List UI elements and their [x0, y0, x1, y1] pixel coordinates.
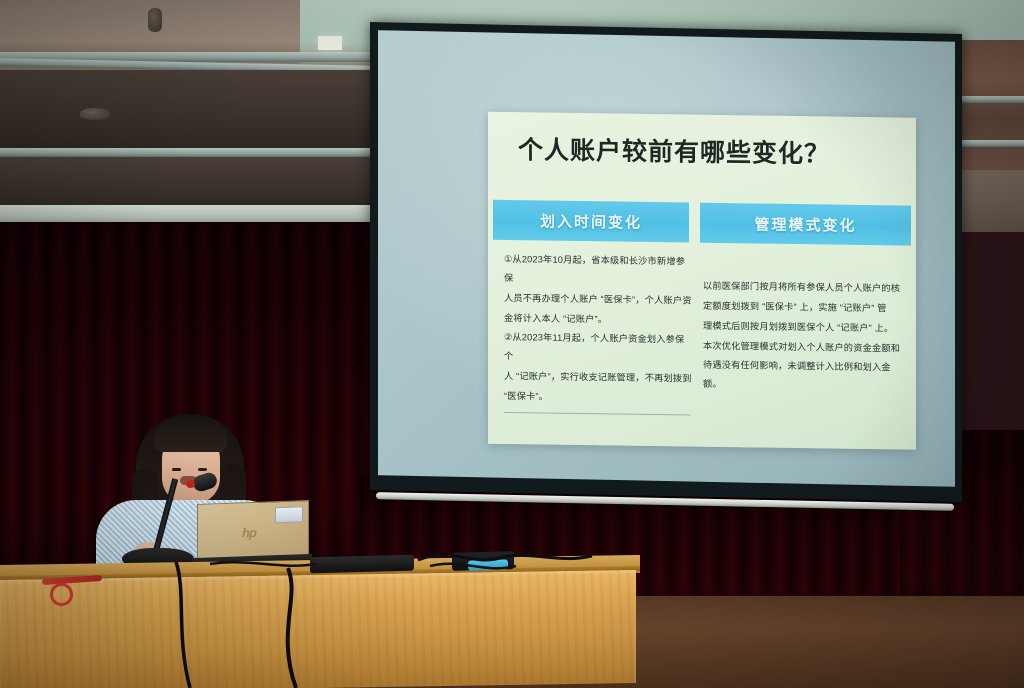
slide-text-line: ②从2023年11月起，个人账户资金划入参保个 — [504, 328, 692, 368]
laptop-asset-sticker — [275, 506, 303, 523]
slide-text-line: “医保卡”。 — [504, 387, 692, 408]
presentation-photo-scene: 个人账户较前有哪些变化？ 划入时间变化 管理模式变化 ①从2023年10月起，省… — [0, 0, 1024, 688]
microphone-indicator-light — [186, 480, 195, 488]
ceiling-panel — [0, 157, 372, 209]
projection-screen-surface: 个人账户较前有哪些变化？ 划入时间变化 管理模式变化 ①从2023年10月起，省… — [378, 30, 955, 487]
presenter-eye — [172, 468, 181, 471]
slide-column-body-right: 以前医保部门按月将所有参保人员个人账户的核 定额度划拨到 “医保卡” 上，实施 … — [703, 277, 908, 398]
ceiling-beam — [956, 96, 1024, 103]
slide-column-header-right: 管理模式变化 — [700, 203, 911, 246]
ceiling-fixture — [148, 8, 162, 32]
slide-text-line: 待遇没有任何影响，未调整计入比例和划入金额。 — [703, 356, 908, 397]
presentation-slide: 个人账户较前有哪些变化？ 划入时间变化 管理模式变化 ①从2023年10月起，省… — [488, 112, 916, 450]
slide-text-line: 理模式后则按月划拨到医保个人 “记账户” 上。 — [703, 316, 908, 338]
presenter-bangs — [154, 418, 228, 452]
presenter-eye — [198, 468, 207, 471]
slide-text-line: 以前医保部门按月将所有参保人员个人账户的核 — [703, 277, 908, 299]
slide-text-line: 定额度划拨到 “医保卡” 上，实施 “记账户” 管 — [703, 297, 908, 319]
slide-column-body-left: ①从2023年10月起，省本级和长沙市新增参保 人员不再办理个人账户 “医保卡”… — [504, 250, 692, 410]
slide-text-line: 本次优化管理模式对划入个人账户的资金金额和 — [703, 336, 908, 358]
slide-divider-line — [504, 412, 690, 416]
slide-text-line: 金将计入本人 “记账户”。 — [504, 309, 692, 330]
slide-text-line: 人员不再办理个人账户 “医保卡”，个人账户资 — [504, 289, 692, 310]
ceiling-light — [318, 36, 342, 50]
projection-screen: 个人账户较前有哪些变化？ 划入时间变化 管理模式变化 ①从2023年10月起，省… — [370, 22, 962, 502]
slide-text-line: 人 “记账户”，实行收支记账管理，不再划拨到 — [504, 367, 692, 388]
slide-column-header-left: 划入时间变化 — [493, 200, 689, 243]
ceiling-wood-panel — [956, 40, 1024, 170]
ceiling-speaker — [80, 108, 110, 120]
hp-logo-icon: hp — [242, 525, 256, 540]
slide-text-line: ①从2023年10月起，省本级和长沙市新增参保 — [504, 250, 692, 290]
slide-title: 个人账户较前有哪些变化？ — [518, 130, 830, 170]
ceiling-panel — [0, 70, 372, 148]
desk-cables — [0, 540, 640, 688]
ceiling-beam — [0, 148, 372, 157]
ceiling-beam — [956, 140, 1024, 147]
